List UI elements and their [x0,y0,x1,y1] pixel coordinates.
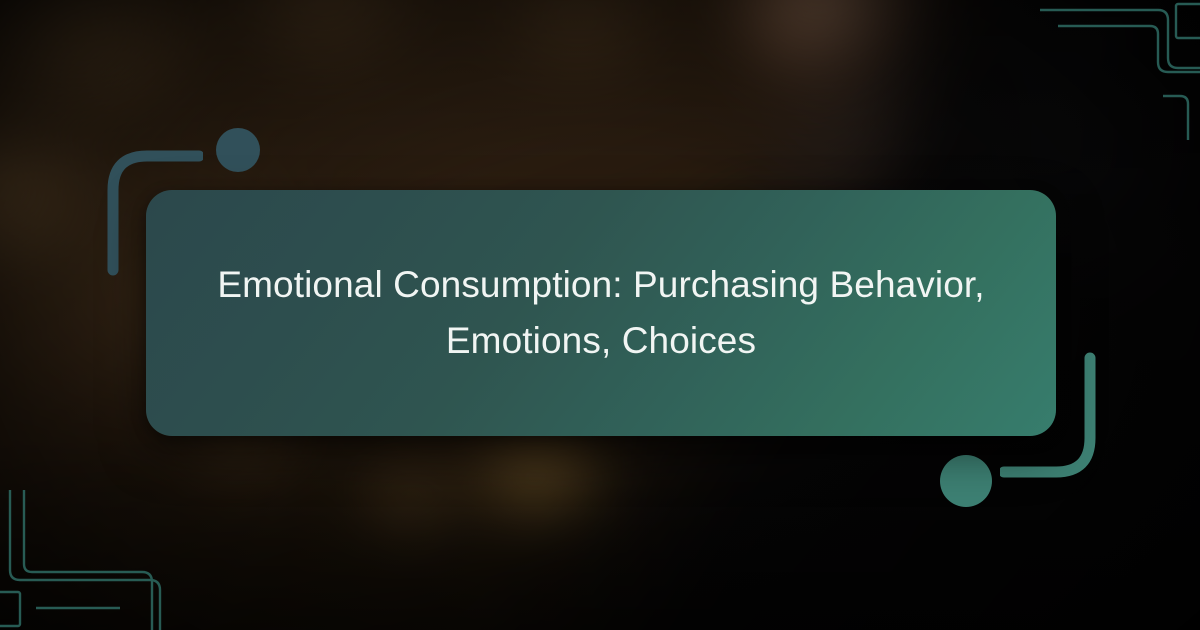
accent-dot-top-left [216,128,260,172]
accent-dot-bottom-right [940,455,992,507]
title-card: Emotional Consumption: Purchasing Behavi… [146,190,1056,436]
og-card-canvas: Emotional Consumption: Purchasing Behavi… [0,0,1200,630]
page-title: Emotional Consumption: Purchasing Behavi… [216,257,986,369]
